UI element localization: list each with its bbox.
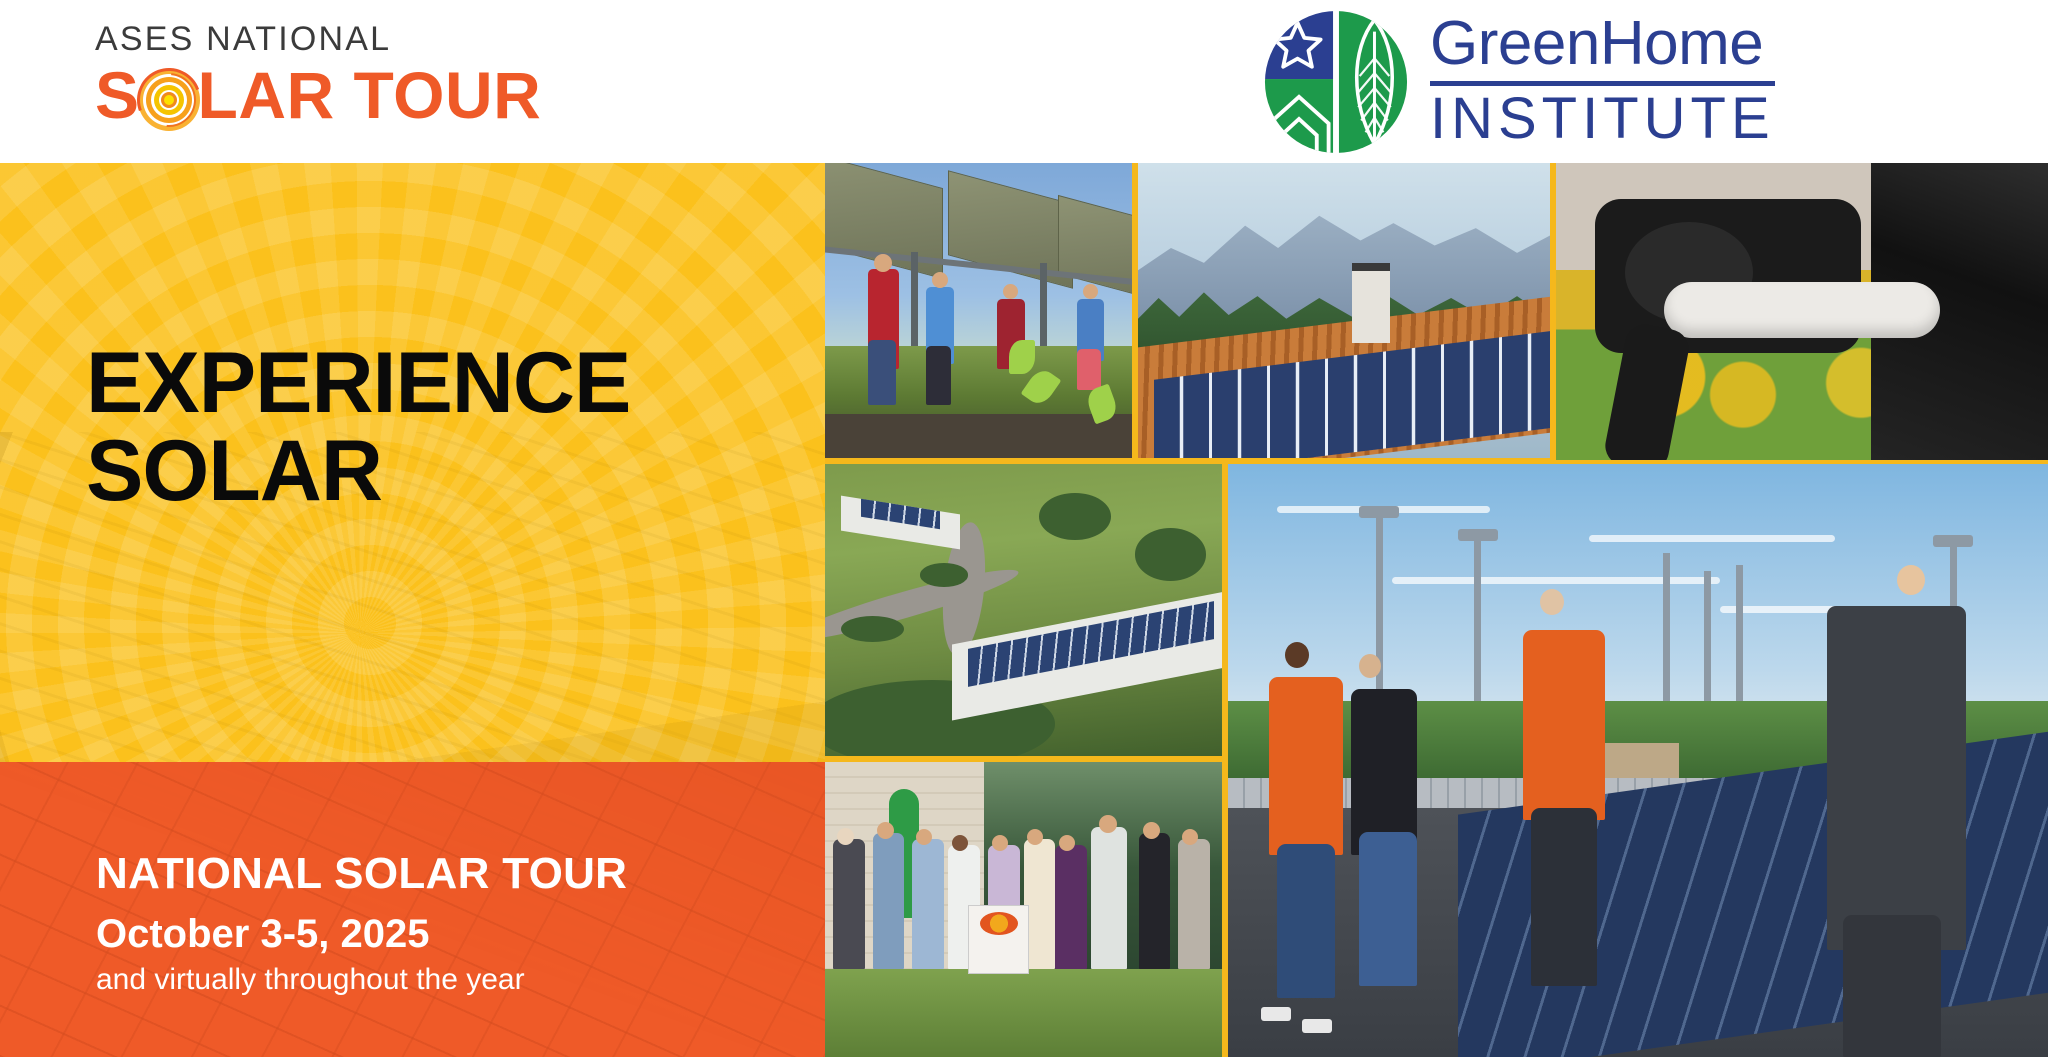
greenhome-wordmark: GreenHome INSTITUTE (1430, 12, 1775, 151)
greenhome-wordmark-line2: INSTITUTE (1430, 90, 1775, 148)
photo-collage (825, 163, 2048, 1057)
greenhome-circle-emblem-icon (1262, 8, 1410, 156)
event-info-block: NATIONAL SOLAR TOUR October 3-5, 2025 an… (96, 850, 627, 998)
event-dates: October 3-5, 2025 (96, 912, 627, 956)
ases-logo-solar-rest: LAR TOUR (198, 58, 542, 132)
ases-logo-line2: SLAR TOUR (95, 62, 541, 131)
photo-aerial-rural-solar (825, 464, 1222, 756)
tour-sign (968, 905, 1030, 975)
photo-alpine-rooftop-solar (1138, 163, 1550, 458)
photo-garden-solar-trackers (825, 163, 1132, 458)
photo-tour-group (825, 762, 1222, 1057)
headline-line-1: EXPERIENCE (86, 340, 630, 428)
ases-logo-line1: ASES NATIONAL (95, 22, 541, 56)
photo-ev-charger (1556, 163, 2048, 460)
page-title: EXPERIENCE SOLAR (86, 340, 630, 515)
banner-header: ASES NATIONAL SLAR TOUR (0, 0, 2048, 163)
greenhome-institute-logo: GreenHome INSTITUTE (1262, 8, 1775, 156)
greenhome-wordmark-divider (1430, 81, 1775, 86)
greenhome-wordmark-line1: GreenHome (1430, 12, 1775, 75)
sun-spiral-icon (138, 69, 200, 131)
ases-national-solar-tour-banner: ASES NATIONAL SLAR TOUR (0, 0, 2048, 1057)
ases-logo-solar-s: S (95, 58, 140, 132)
photo-rooftop-solar-tour (1228, 464, 2048, 1057)
headline-line-2: SOLAR (86, 428, 630, 516)
event-title: NATIONAL SOLAR TOUR (96, 850, 627, 898)
event-subtitle: and virtually throughout the year (96, 963, 627, 998)
ases-national-solar-tour-logo: ASES NATIONAL SLAR TOUR (95, 22, 541, 131)
